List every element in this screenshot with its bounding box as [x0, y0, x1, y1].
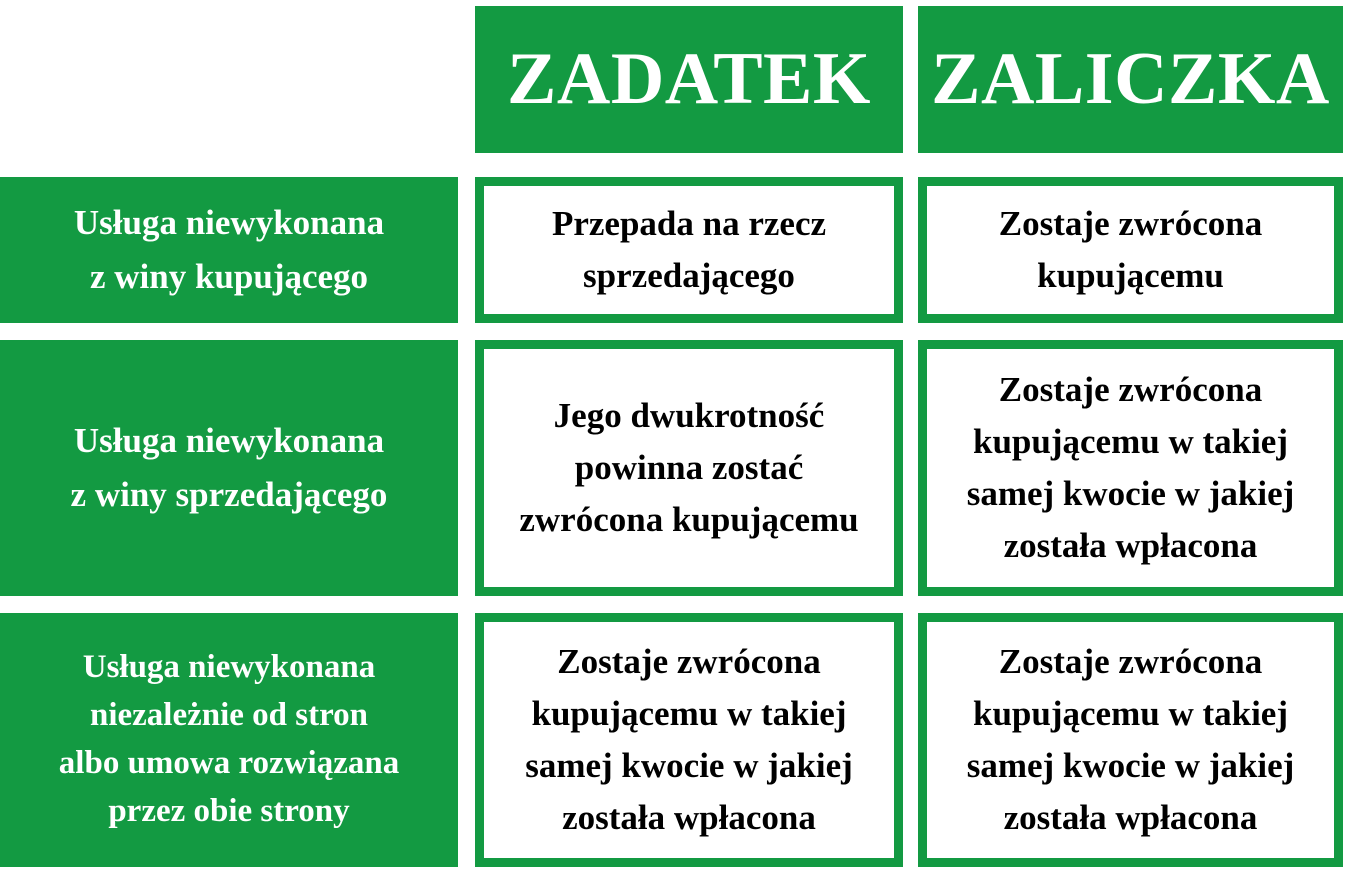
cell-row1-zaliczka: Zostaje zwrócona kupującemu — [918, 177, 1343, 323]
cell-row2-zaliczka-text: Zostaje zwrócona kupującemu w takiej sam… — [927, 364, 1334, 571]
cell-row1-zadatek: Przepada na rzecz sprzedającego — [475, 177, 903, 323]
row-label-1: Usługa niewykonana z winy kupującego — [0, 177, 458, 323]
comparison-table: ZADATEK ZALICZKA Usługa niewykonana z wi… — [0, 0, 1351, 873]
row-label-2: Usługa niewykonana z winy sprzedającego — [0, 340, 458, 596]
column-header-zaliczka-label: ZALICZKA — [918, 42, 1343, 117]
cell-row3-zaliczka-text: Zostaje zwrócona kupującemu w takiej sam… — [927, 636, 1334, 843]
cell-row3-zaliczka: Zostaje zwrócona kupującemu w takiej sam… — [918, 613, 1343, 867]
cell-row3-zadatek: Zostaje zwrócona kupującemu w takiej sam… — [475, 613, 903, 867]
cell-row2-zadatek-text: Jego dwukrotność powinna zostać zwrócona… — [484, 390, 894, 545]
cell-row3-zadatek-text: Zostaje zwrócona kupującemu w takiej sam… — [484, 636, 894, 843]
column-header-zaliczka: ZALICZKA — [918, 6, 1343, 153]
cell-row1-zadatek-text: Przepada na rzecz sprzedającego — [484, 198, 894, 302]
row-label-3-text: Usługa niewykonana niezależnie od stron … — [0, 644, 458, 835]
cell-row1-zaliczka-text: Zostaje zwrócona kupującemu — [927, 198, 1334, 302]
column-header-zadatek-label: ZADATEK — [475, 42, 903, 117]
row-label-2-text: Usługa niewykonana z winy sprzedającego — [0, 414, 458, 523]
cell-row2-zaliczka: Zostaje zwrócona kupującemu w takiej sam… — [918, 340, 1343, 596]
row-label-1-text: Usługa niewykonana z winy kupującego — [0, 196, 458, 305]
row-label-3: Usługa niewykonana niezależnie od stron … — [0, 613, 458, 867]
column-header-zadatek: ZADATEK — [475, 6, 903, 153]
cell-row2-zadatek: Jego dwukrotność powinna zostać zwrócona… — [475, 340, 903, 596]
